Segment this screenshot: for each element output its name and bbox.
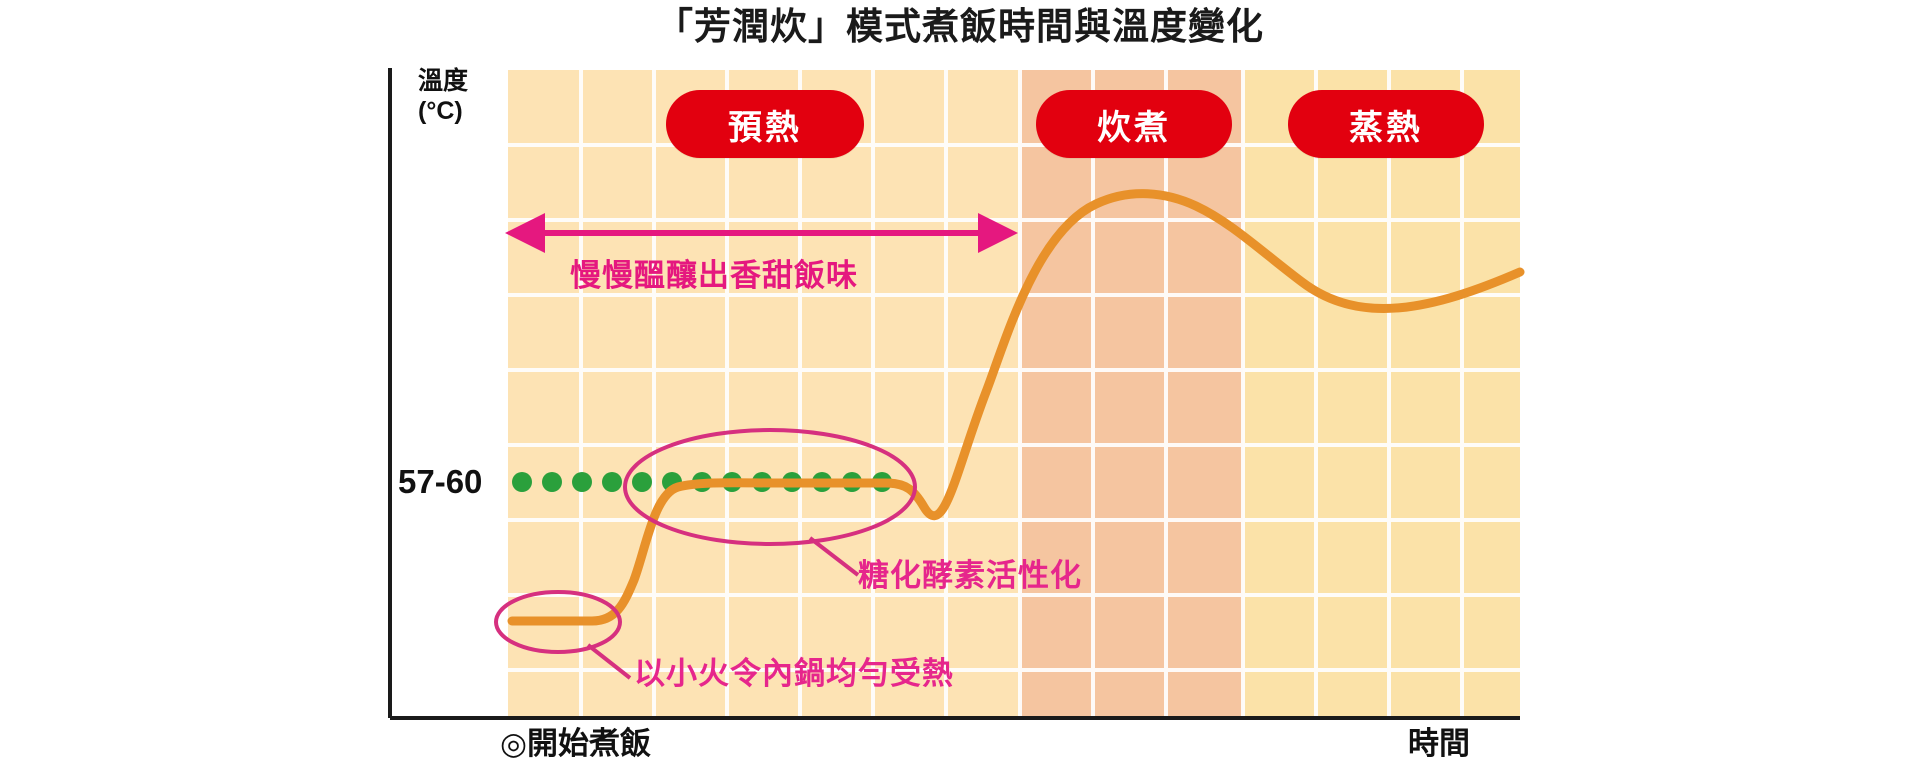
annotation-enzyme: 糖化酵素活性化 xyxy=(858,550,1082,595)
phase-badge-preheat[interactable]: 預熱 xyxy=(666,90,864,158)
band-cooking xyxy=(1020,70,1243,718)
phase-bands xyxy=(508,70,1520,718)
annotation-low-flame: 以小火令內鍋均勻受熱 xyxy=(634,648,954,693)
phase-badge-cooking[interactable]: 炊煮 xyxy=(1036,90,1232,158)
chart-plot-svg xyxy=(0,0,1920,768)
phase-badge-steaming[interactable]: 蒸熱 xyxy=(1288,90,1484,158)
phase-badge-steaming-label: 蒸熱 xyxy=(1349,100,1423,149)
annotation-slow-flavor: 慢慢醞釀出香甜飯味 xyxy=(570,250,858,295)
band-steaming xyxy=(1243,70,1520,718)
chart-figure: 「芳潤炊」模式煮飯時間與溫度變化 溫度 (°C) 57-60 ◎開始煮飯 時間 xyxy=(0,0,1920,768)
phase-badge-cooking-label: 炊煮 xyxy=(1097,100,1171,149)
phase-badge-preheat-label: 預熱 xyxy=(728,100,802,149)
